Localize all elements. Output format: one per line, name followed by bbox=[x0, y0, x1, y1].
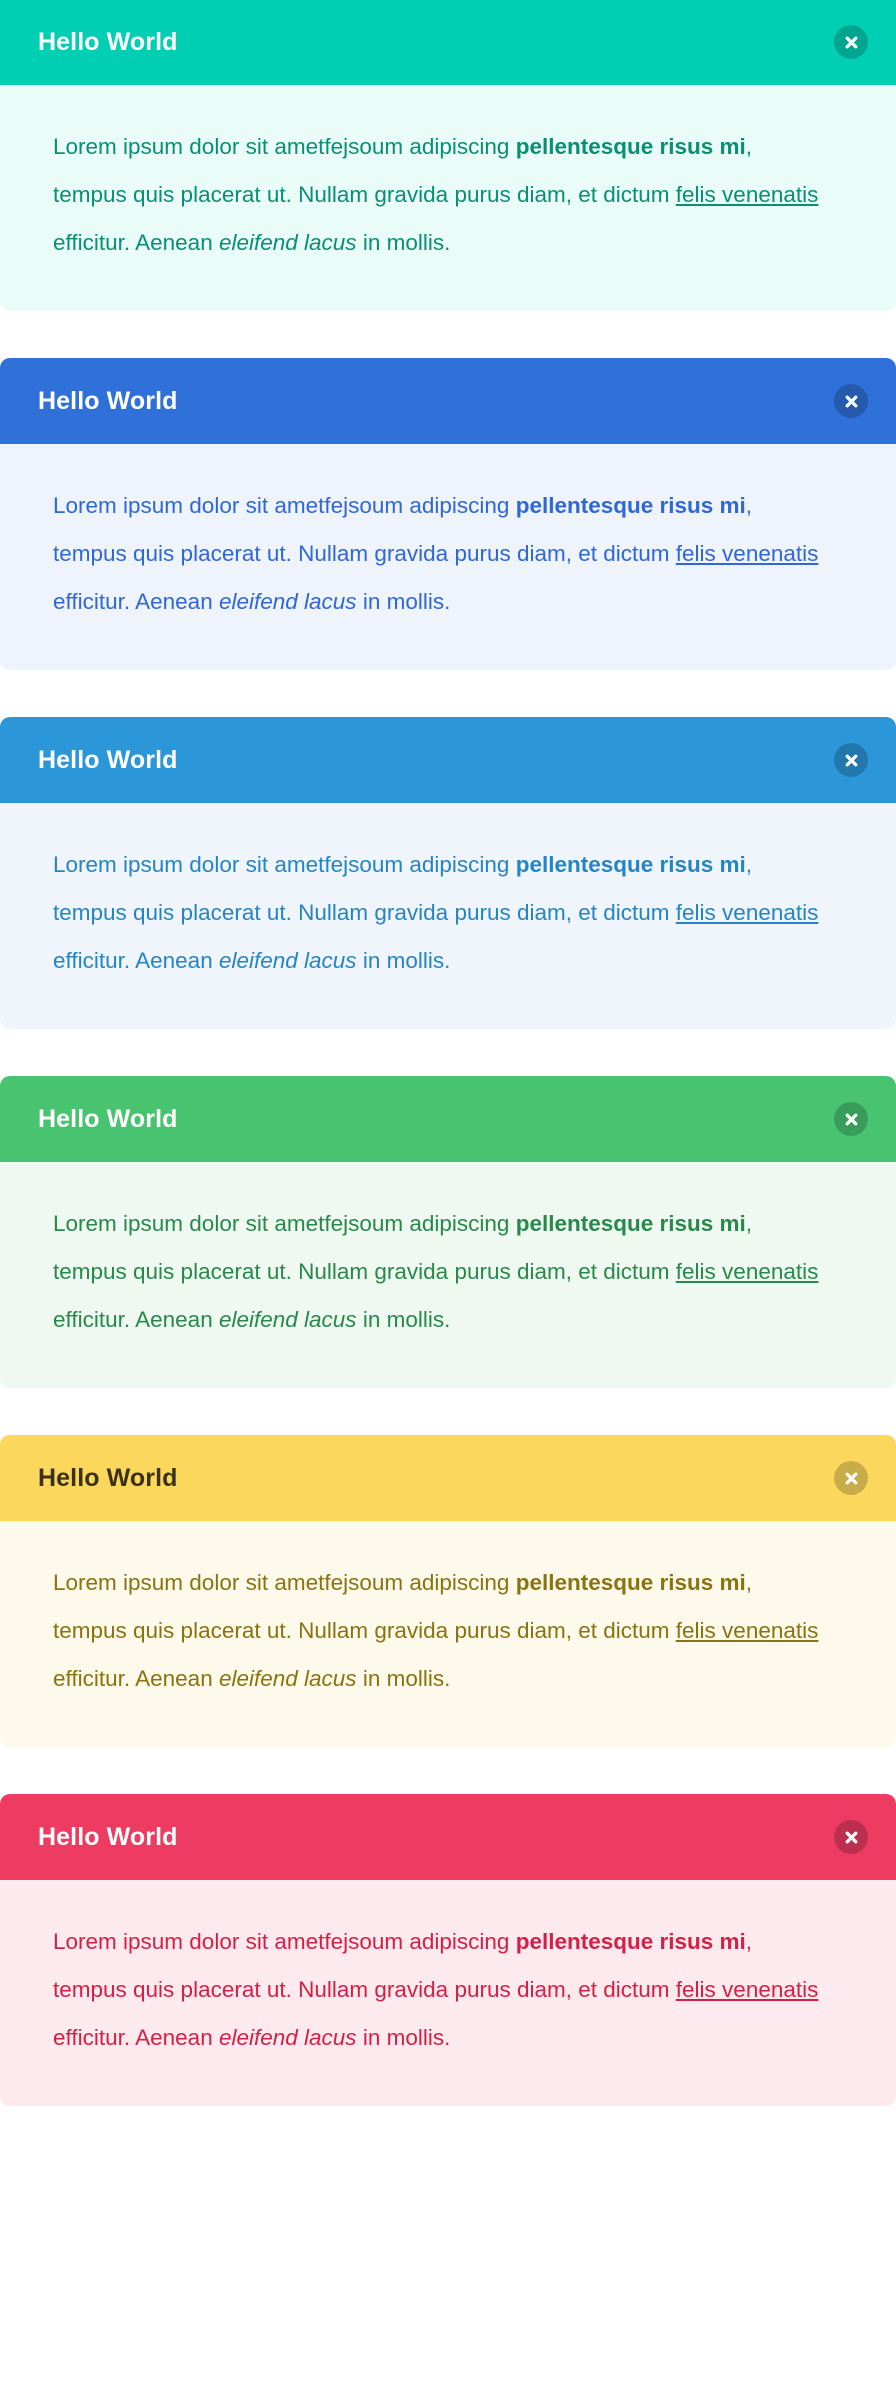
message-bold: pellentesque risus mi bbox=[516, 1211, 746, 1236]
message-lead: Lorem ipsum dolor sit ametfejsoum adipis… bbox=[53, 852, 516, 877]
message-tail: in mollis. bbox=[357, 589, 451, 614]
alert-body-danger: Lorem ipsum dolor sit ametfejsoum adipis… bbox=[0, 1880, 896, 2106]
alert-card-teal: Hello World Lorem ipsum dolor sit ametfe… bbox=[0, 0, 896, 311]
alert-title-info: Hello World bbox=[38, 748, 178, 773]
close-icon bbox=[844, 1830, 859, 1845]
message-tail: in mollis. bbox=[357, 948, 451, 973]
alert-stack: Hello World Lorem ipsum dolor sit ametfe… bbox=[0, 0, 896, 2106]
message-tail: in mollis. bbox=[357, 1307, 451, 1332]
alert-message: Lorem ipsum dolor sit ametfejsoum adipis… bbox=[53, 482, 823, 626]
alert-title-danger: Hello World bbox=[38, 1825, 178, 1850]
message-after-link: efficitur. Aenean bbox=[53, 2025, 219, 2050]
message-after-link: efficitur. Aenean bbox=[53, 1666, 219, 1691]
message-lead: Lorem ipsum dolor sit ametfejsoum adipis… bbox=[53, 1211, 516, 1236]
felis-venenatis-link[interactable]: felis venenatis bbox=[676, 1977, 819, 2002]
message-lead: Lorem ipsum dolor sit ametfejsoum adipis… bbox=[53, 493, 516, 518]
alert-header-danger: Hello World bbox=[0, 1794, 896, 1880]
alert-header-info: Hello World bbox=[0, 717, 896, 803]
alert-body-success: Lorem ipsum dolor sit ametfejsoum adipis… bbox=[0, 1162, 896, 1388]
alert-card-danger: Hello World Lorem ipsum dolor sit ametfe… bbox=[0, 1794, 896, 2106]
message-italic: eleifend lacus bbox=[219, 948, 357, 973]
close-button-danger[interactable] bbox=[834, 1820, 868, 1854]
felis-venenatis-link[interactable]: felis venenatis bbox=[676, 1259, 819, 1284]
alert-message: Lorem ipsum dolor sit ametfejsoum adipis… bbox=[53, 1559, 823, 1703]
message-italic: eleifend lacus bbox=[219, 589, 357, 614]
close-icon bbox=[844, 1112, 859, 1127]
alert-header-teal: Hello World bbox=[0, 0, 896, 85]
alert-header-primary: Hello World bbox=[0, 358, 896, 444]
alert-message: Lorem ipsum dolor sit ametfejsoum adipis… bbox=[53, 841, 823, 985]
message-tail: in mollis. bbox=[357, 2025, 451, 2050]
alert-title-primary: Hello World bbox=[38, 389, 178, 414]
close-icon bbox=[844, 35, 859, 50]
felis-venenatis-link[interactable]: felis venenatis bbox=[676, 900, 819, 925]
alert-body-warning: Lorem ipsum dolor sit ametfejsoum adipis… bbox=[0, 1521, 896, 1747]
alert-title-success: Hello World bbox=[38, 1107, 178, 1132]
close-button-warning[interactable] bbox=[834, 1461, 868, 1495]
alert-message: Lorem ipsum dolor sit ametfejsoum adipis… bbox=[53, 123, 823, 267]
alert-message: Lorem ipsum dolor sit ametfejsoum adipis… bbox=[53, 1918, 823, 2062]
message-italic: eleifend lacus bbox=[219, 1666, 357, 1691]
alert-title-warning: Hello World bbox=[38, 1466, 178, 1491]
alert-card-primary: Hello World Lorem ipsum dolor sit ametfe… bbox=[0, 358, 896, 670]
alert-message: Lorem ipsum dolor sit ametfejsoum adipis… bbox=[53, 1200, 823, 1344]
message-after-link: efficitur. Aenean bbox=[53, 948, 219, 973]
alert-card-info: Hello World Lorem ipsum dolor sit ametfe… bbox=[0, 717, 896, 1029]
alert-header-warning: Hello World bbox=[0, 1435, 896, 1521]
alert-body-primary: Lorem ipsum dolor sit ametfejsoum adipis… bbox=[0, 444, 896, 670]
close-icon bbox=[844, 753, 859, 768]
message-lead: Lorem ipsum dolor sit ametfejsoum adipis… bbox=[53, 134, 516, 159]
alert-body-teal: Lorem ipsum dolor sit ametfejsoum adipis… bbox=[0, 85, 896, 311]
message-italic: eleifend lacus bbox=[219, 2025, 357, 2050]
alert-header-success: Hello World bbox=[0, 1076, 896, 1162]
close-button-primary[interactable] bbox=[834, 384, 868, 418]
message-lead: Lorem ipsum dolor sit ametfejsoum adipis… bbox=[53, 1929, 516, 1954]
close-button-success[interactable] bbox=[834, 1102, 868, 1136]
message-lead: Lorem ipsum dolor sit ametfejsoum adipis… bbox=[53, 1570, 516, 1595]
close-icon bbox=[844, 1471, 859, 1486]
message-italic: eleifend lacus bbox=[219, 230, 357, 255]
message-bold: pellentesque risus mi bbox=[516, 134, 746, 159]
message-bold: pellentesque risus mi bbox=[516, 852, 746, 877]
alert-card-warning: Hello World Lorem ipsum dolor sit ametfe… bbox=[0, 1435, 896, 1747]
message-italic: eleifend lacus bbox=[219, 1307, 357, 1332]
message-bold: pellentesque risus mi bbox=[516, 493, 746, 518]
close-icon bbox=[844, 394, 859, 409]
message-bold: pellentesque risus mi bbox=[516, 1929, 746, 1954]
felis-venenatis-link[interactable]: felis venenatis bbox=[676, 1618, 819, 1643]
felis-venenatis-link[interactable]: felis venenatis bbox=[676, 182, 819, 207]
close-button-info[interactable] bbox=[834, 743, 868, 777]
alert-card-success: Hello World Lorem ipsum dolor sit ametfe… bbox=[0, 1076, 896, 1388]
message-tail: in mollis. bbox=[357, 230, 451, 255]
message-after-link: efficitur. Aenean bbox=[53, 1307, 219, 1332]
felis-venenatis-link[interactable]: felis venenatis bbox=[676, 541, 819, 566]
alert-title-teal: Hello World bbox=[38, 30, 178, 55]
message-after-link: efficitur. Aenean bbox=[53, 230, 219, 255]
close-button-teal[interactable] bbox=[834, 25, 868, 59]
alert-body-info: Lorem ipsum dolor sit ametfejsoum adipis… bbox=[0, 803, 896, 1029]
message-after-link: efficitur. Aenean bbox=[53, 589, 219, 614]
message-tail: in mollis. bbox=[357, 1666, 451, 1691]
message-bold: pellentesque risus mi bbox=[516, 1570, 746, 1595]
